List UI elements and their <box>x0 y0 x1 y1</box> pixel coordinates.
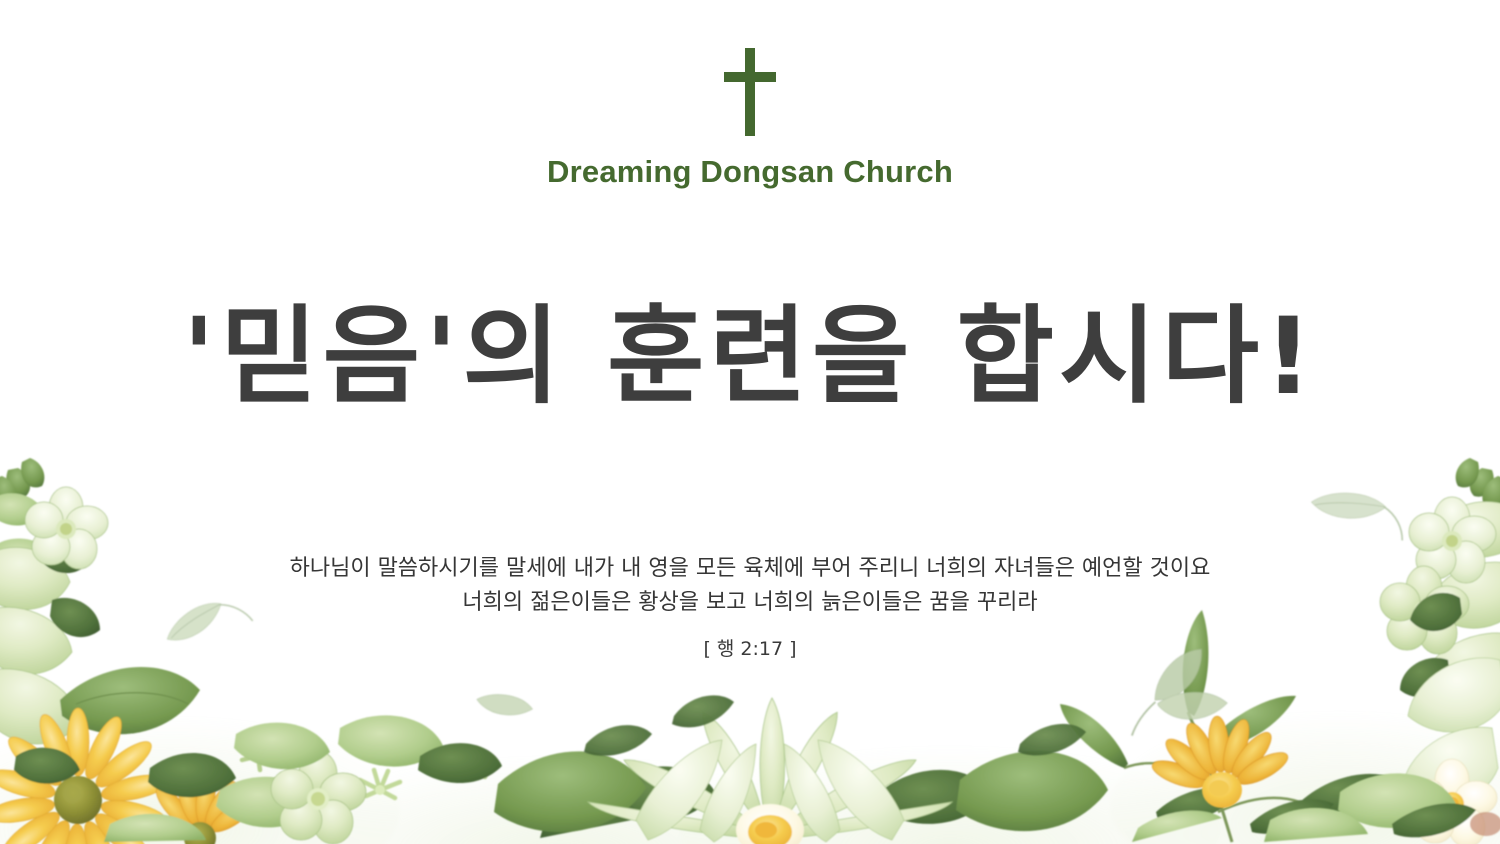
floating-leaf-upper-right <box>1308 486 1409 540</box>
cross-icon <box>714 48 786 136</box>
church-logo: Dreaming Dongsan Church <box>0 48 1500 190</box>
scripture-block: 하나님이 말씀하시기를 말세에 내가 내 영을 모든 육체에 부어 주리니 너희… <box>0 552 1500 661</box>
scripture-line-2: 너희의 젊은이들은 황상을 보고 너희의 늙은이들은 꿈을 꾸리라 <box>0 586 1500 620</box>
page-title: '믿음'의 훈련을 합시다! <box>0 296 1500 418</box>
scripture-reference: [ 행 2:17 ] <box>0 634 1500 661</box>
presentation-slide: Dreaming Dongsan Church '믿음'의 훈련을 합시다! 하… <box>0 0 1500 844</box>
church-name: Dreaming Dongsan Church <box>0 154 1500 190</box>
sunflower-petals <box>0 708 170 844</box>
scripture-line-1: 하나님이 말씀하시기를 말세에 내가 내 영을 모든 육체에 부어 주리니 너희… <box>0 552 1500 586</box>
floating-leaf-left-mid <box>475 687 534 722</box>
